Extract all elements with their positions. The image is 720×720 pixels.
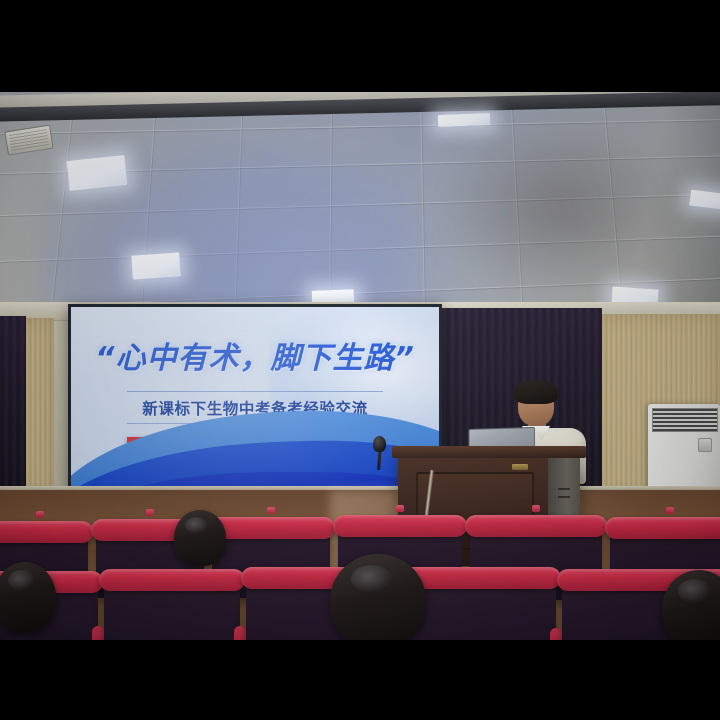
seat-top-rail <box>333 515 467 537</box>
slide-title: “心中有术，脚下生路” <box>71 333 439 377</box>
stage-curtain-left <box>0 316 26 502</box>
audience-head <box>174 510 226 566</box>
ceiling-light-panel <box>689 190 720 211</box>
seat-armrest <box>550 628 562 640</box>
seat-armrest <box>234 626 246 640</box>
seat-knob <box>267 507 275 514</box>
seat-top-rail <box>99 569 245 591</box>
auditorium-scene: “心中有术，脚下生路” 新课标下生物中考备考经验交流 习语 钦州市第二中学初中部… <box>0 92 720 640</box>
seat-knob <box>666 507 674 514</box>
letterbox-top <box>0 0 720 92</box>
ac-vent-grille <box>652 408 718 432</box>
microphone-head <box>373 436 386 452</box>
presenter-hair <box>514 380 558 404</box>
lectern-top-surface <box>392 446 586 458</box>
seat-knob <box>532 505 540 512</box>
seat-armrest <box>92 626 104 640</box>
photo-canvas: “心中有术，脚下生路” 新课标下生物中考备考经验交流 习语 钦州市第二中学初中部… <box>0 0 720 720</box>
ceiling-shadow <box>430 112 690 302</box>
slide-divider <box>127 391 383 392</box>
seat-knob <box>36 511 44 518</box>
seat-top-rail <box>0 521 93 543</box>
ceiling-light-panel <box>438 113 490 127</box>
slide-surface: “心中有术，脚下生路” 新课标下生物中考备考经验交流 习语 钦州市第二中学初中部… <box>71 307 439 516</box>
ceiling-light-panel <box>131 252 181 279</box>
ac-control-panel[interactable] <box>698 438 712 452</box>
audience-head <box>0 562 56 632</box>
ceiling-light-panel <box>67 155 128 191</box>
rack-vent <box>558 488 570 490</box>
seat-row-near[interactable] <box>104 576 240 640</box>
letterbox-bottom <box>0 640 720 720</box>
seat-top-rail <box>605 517 720 539</box>
ceiling <box>0 92 720 314</box>
seat-top-rail <box>465 515 607 537</box>
audience-head <box>330 554 426 640</box>
seat-knob <box>396 505 404 512</box>
projector-glow <box>40 122 460 322</box>
lectern-badge <box>512 464 528 470</box>
rack-vent <box>558 496 570 498</box>
seat-top-rail <box>207 517 335 539</box>
seat-knob <box>146 509 154 516</box>
